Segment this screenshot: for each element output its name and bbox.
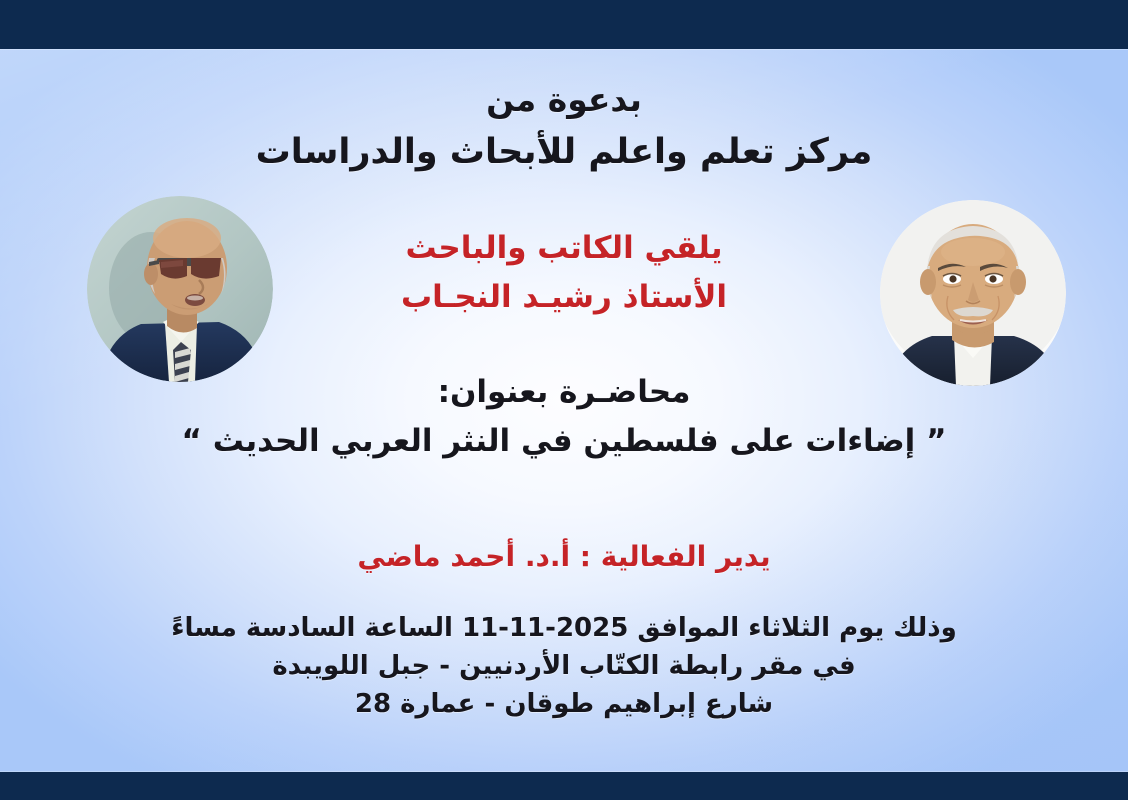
lecture-block: محاضـرة بعنوان: ” إضاءات على فلسطين في ا… <box>0 375 1128 458</box>
top-navy-bar <box>0 0 1128 49</box>
poster-content: بدعوة من مركز تعلم واعلم للأبحاث والدراس… <box>0 49 1128 772</box>
event-date-time: وذلك يوم الثلاثاء الموافق 2025-11-11 الس… <box>0 614 1128 643</box>
moderator-line: يدير الفعالية : أ.د. أحمد ماضي <box>0 541 1128 572</box>
invitation-block: بدعوة من مركز تعلم واعلم للأبحاث والدراس… <box>0 82 1128 172</box>
details-block: وذلك يوم الثلاثاء الموافق 2025-11-11 الس… <box>0 614 1128 719</box>
lecture-title: ” إضاءات على فلسطين في النثر العربي الحد… <box>0 424 1128 459</box>
lecture-label: محاضـرة بعنوان: <box>0 375 1128 410</box>
bottom-navy-bar <box>0 772 1128 800</box>
speaker-intro-line: يلقي الكاتب والباحث <box>0 231 1128 266</box>
invitation-organizer: مركز تعلم واعلم للأبحاث والدراسات <box>0 133 1128 172</box>
speaker-name: الأستاذ رشيـد النجـاب <box>0 280 1128 315</box>
speaker-block: يلقي الكاتب والباحث الأستاذ رشيـد النجـا… <box>0 231 1128 314</box>
invitation-line-1: بدعوة من <box>0 82 1128 119</box>
moderator-block: يدير الفعالية : أ.د. أحمد ماضي <box>0 541 1128 572</box>
event-address: شارع إبراهيم طوقان - عمارة 28 <box>0 690 1128 719</box>
event-poster: بدعوة من مركز تعلم واعلم للأبحاث والدراس… <box>0 0 1128 800</box>
event-venue: في مقر رابطة الكتّاب الأردنيين - جبل الل… <box>0 652 1128 681</box>
